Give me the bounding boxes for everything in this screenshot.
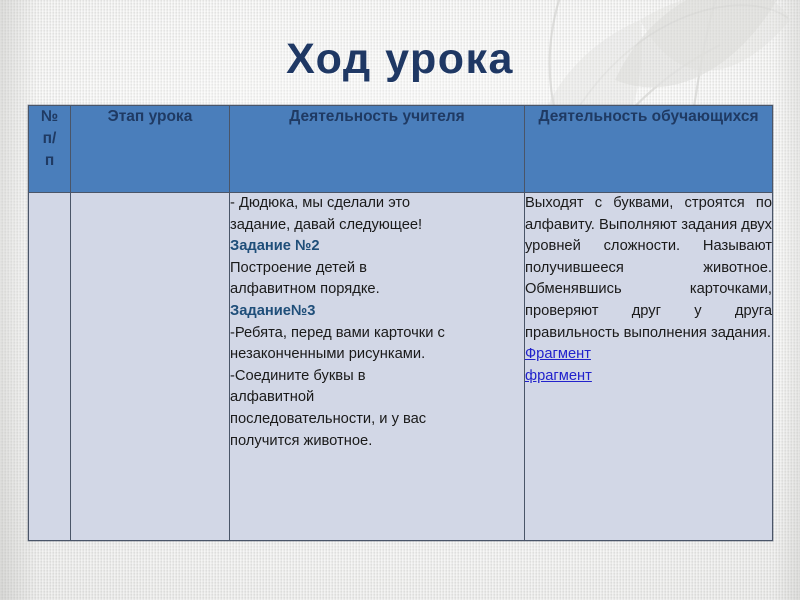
fragment-link-2[interactable]: фрагмент xyxy=(525,366,772,388)
column-header-stage: Этап урока xyxy=(71,106,230,193)
cell-teacher-activity: - Дюдюка, мы сделали это задание, давай … xyxy=(230,193,525,541)
teacher-line: Построение детей в xyxy=(230,258,524,280)
column-header-number-line1: № xyxy=(31,106,68,128)
table-header-row: № п/ п Этап урока Деятельность учителя Д… xyxy=(29,106,773,193)
lesson-plan-table-container: № п/ п Этап урока Деятельность учителя Д… xyxy=(28,105,772,541)
teacher-line: незаконченными рисунками. xyxy=(230,344,524,366)
teacher-line: задание, давай следующее! xyxy=(230,215,524,237)
cell-students-activity: Выходят с буквами, строятся по алфавиту.… xyxy=(525,193,773,541)
teacher-line: алфавитном порядке. xyxy=(230,279,524,301)
column-header-students-line2: обучающихся xyxy=(652,108,759,125)
table-body: - Дюдюка, мы сделали это задание, давай … xyxy=(29,193,773,541)
fragment-link-1[interactable]: Фрагмент xyxy=(525,344,772,366)
teacher-line: получится животное. xyxy=(230,431,524,453)
column-header-teacher-activity: Деятельность учителя xyxy=(230,106,525,193)
column-header-students-activity: Деятельность обучающихся xyxy=(525,106,773,193)
table-row: - Дюдюка, мы сделали это задание, давай … xyxy=(29,193,773,541)
teacher-line: - Дюдюка, мы сделали это xyxy=(230,193,524,215)
page-title: Ход урока xyxy=(0,38,800,81)
cell-number xyxy=(29,193,71,541)
teacher-task3-heading: Задание№3 xyxy=(230,301,524,323)
teacher-line: -Ребята, перед вами карточки с xyxy=(230,323,524,345)
teacher-line: -Соедините буквы в xyxy=(230,366,524,388)
table-header: № п/ п Этап урока Деятельность учителя Д… xyxy=(29,106,773,193)
teacher-task2-heading: Задание №2 xyxy=(230,236,524,258)
column-header-number: № п/ п xyxy=(29,106,71,193)
lesson-plan-table: № п/ п Этап урока Деятельность учителя Д… xyxy=(28,105,773,541)
teacher-line: алфавитной xyxy=(230,387,524,409)
students-activity-text: Выходят с буквами, строятся по алфавиту.… xyxy=(525,193,772,344)
cell-stage xyxy=(71,193,230,541)
column-header-number-line2: п/ xyxy=(31,128,68,150)
column-header-students-line1: Деятельность xyxy=(539,108,648,125)
column-header-number-line3: п xyxy=(31,150,68,172)
teacher-line: последовательности, и у вас xyxy=(230,409,524,431)
